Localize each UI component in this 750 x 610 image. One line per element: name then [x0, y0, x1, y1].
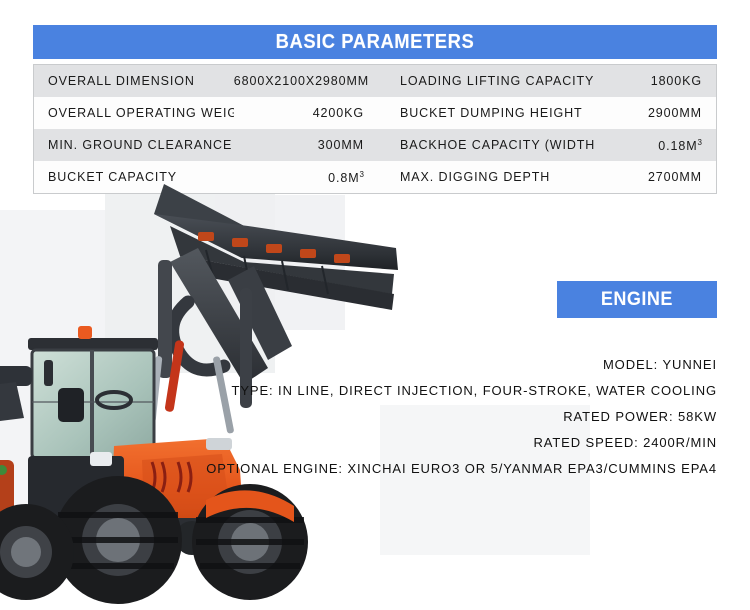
headlight [90, 452, 112, 466]
product-spec-page: BASIC PARAMETERS OVERALL DIMENSION 6800X… [0, 0, 750, 610]
beacon-light [78, 326, 92, 339]
operator-cab [28, 326, 158, 458]
background-watermark [215, 195, 345, 330]
param-label: LOADING LIFTING CAPACITY [382, 65, 594, 97]
engine-title: ENGINE [601, 289, 673, 311]
param-label: OVERALL DIMENSION [34, 65, 234, 97]
param-value: 300MM [234, 129, 382, 161]
background-watermark [105, 188, 275, 373]
engine-header: ENGINE [557, 281, 717, 318]
wheel [192, 484, 308, 600]
param-value: 4200KG [234, 97, 382, 129]
background-watermark [0, 210, 150, 470]
wheel-fender [206, 490, 294, 522]
table-row: BUCKET CAPACITY 0.8M3 MAX. DIGGING DEPTH… [34, 161, 717, 193]
axle-assembly [132, 518, 252, 555]
basic-parameters-title: BASIC PARAMETERS [276, 31, 475, 54]
engine-specs-list: MODEL: YUNNEI TYPE: IN LINE, DIRECT INJE… [180, 352, 717, 482]
front-bucket [154, 184, 398, 310]
param-value: 6800X2100X2980MM [234, 65, 382, 97]
param-label: BUCKET DUMPING HEIGHT [382, 97, 594, 129]
param-value-text: 0.18M [658, 139, 697, 153]
param-value: 2900MM [594, 97, 716, 129]
table-row: MIN. GROUND CLEARANCE 300MM BACKHOE CAPA… [34, 129, 717, 161]
param-value-superscript: 3 [698, 138, 702, 147]
basic-parameters-table: OVERALL DIMENSION 6800X2100X2980MM LOADI… [33, 64, 717, 194]
engine-spec-optional-engine: OPTIONAL ENGINE: XINCHAI EURO3 OR 5/YANM… [180, 456, 717, 482]
background-watermark [0, 470, 120, 580]
param-label: MAX. DIGGING DEPTH [382, 161, 594, 193]
param-value: 1800KG [594, 65, 716, 97]
engine-spec-rated-speed: RATED SPEED: 2400R/MIN [180, 430, 717, 456]
param-value-text: 0.8M [328, 171, 359, 185]
engine-spec-type: TYPE: IN LINE, DIRECT INJECTION, FOUR-ST… [180, 378, 717, 404]
param-value: 0.8M3 [234, 161, 382, 193]
table-row: OVERALL DIMENSION 6800X2100X2980MM LOADI… [34, 65, 717, 97]
wheel [54, 476, 182, 604]
basic-parameters-header: BASIC PARAMETERS [33, 25, 717, 59]
param-value: 0.18M3 [594, 129, 716, 161]
param-label: BUCKET CAPACITY [34, 161, 234, 193]
engine-spec-rated-power: RATED POWER: 58KW [180, 404, 717, 430]
param-label: MIN. GROUND CLEARANCE [34, 129, 234, 161]
rear-backhoe-arm [0, 366, 32, 548]
param-label: BACKHOE CAPACITY (WIDTH) [382, 129, 594, 161]
param-label: OVERALL OPERATING WEIGHT [34, 97, 234, 129]
table-row: OVERALL OPERATING WEIGHT 4200KG BUCKET D… [34, 97, 717, 129]
wheel [0, 504, 74, 600]
param-value: 2700MM [594, 161, 716, 193]
param-value-superscript: 3 [360, 170, 364, 179]
engine-spec-model: MODEL: YUNNEI [180, 352, 717, 378]
